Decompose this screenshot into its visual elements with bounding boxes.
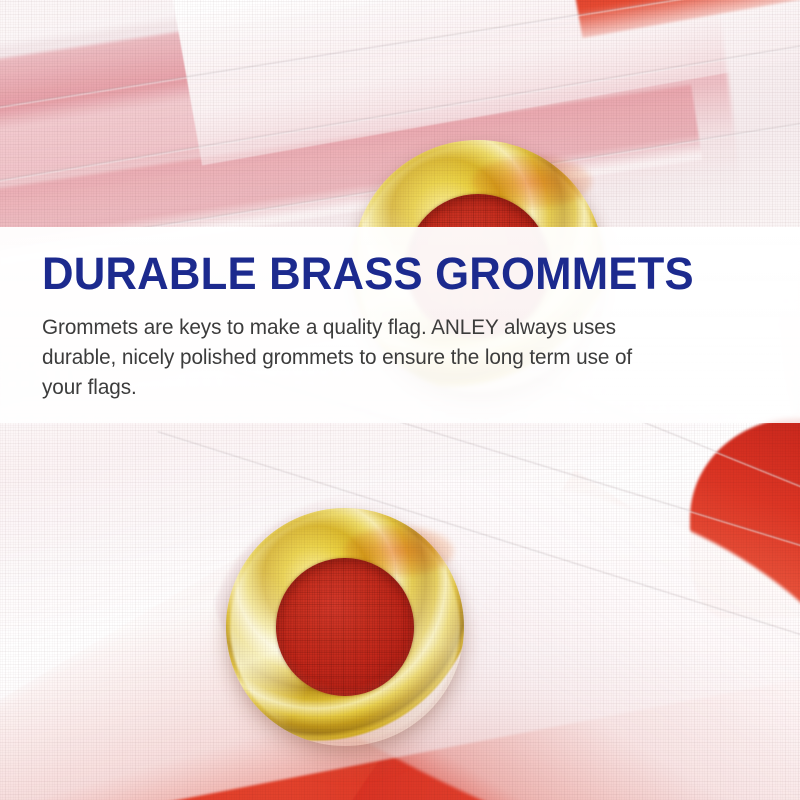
caption-overlay-band: DURABLE BRASS GROMMETS Grommets are keys… bbox=[0, 227, 800, 423]
brass-grommet-bottom-icon bbox=[226, 508, 464, 746]
product-feature-image: DURABLE BRASS GROMMETS Grommets are keys… bbox=[0, 0, 800, 800]
headline-text: DURABLE BRASS GROMMETS bbox=[42, 251, 738, 296]
body-copy-text: Grommets are keys to make a quality flag… bbox=[42, 312, 645, 402]
grommet-hole-bottom bbox=[276, 558, 414, 696]
